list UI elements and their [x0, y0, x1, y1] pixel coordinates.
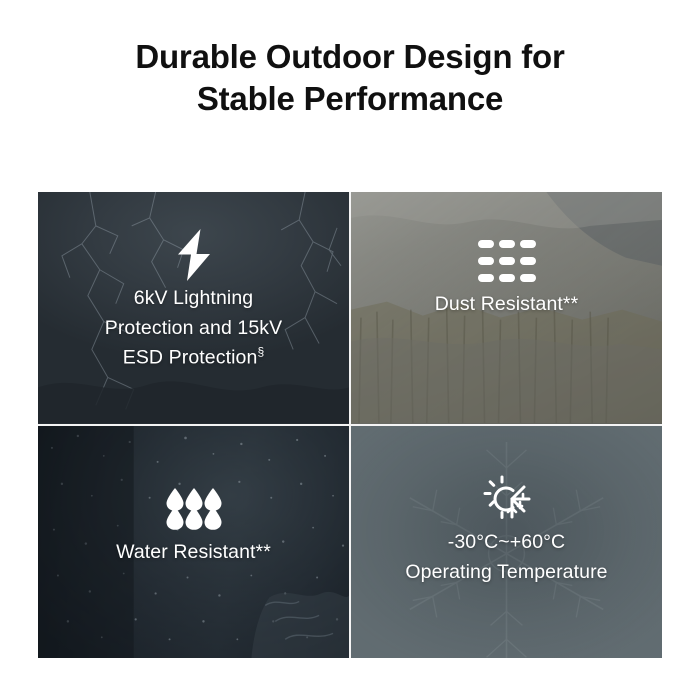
feature-panel-dust-resistant[interactable]: Dust Resistant** — [351, 192, 662, 424]
feature-panel-water-resistant[interactable]: Water Resistant** — [38, 426, 349, 658]
panel-caption-dust-resistant: Dust Resistant** — [435, 290, 579, 320]
caption-line-1: -30°C~+60°C — [405, 528, 607, 558]
caption-line-2: Operating Temperature — [405, 558, 607, 588]
caption-line-3-text: ESD Protection — [123, 347, 258, 369]
dust-grid-icon — [475, 232, 539, 290]
panel-caption-operating-temperature: -30°C~+60°C Operating Temperature — [405, 528, 607, 587]
page-title-line-2: Stable Performance — [0, 78, 700, 120]
caption-line-1: Water Resistant** — [116, 538, 271, 568]
sun-snowflake-icon — [475, 470, 539, 528]
caption-line-2: Protection and 15kV — [105, 314, 283, 344]
caption-footnote-marker: § — [257, 345, 264, 359]
feature-grid: 6kV Lightning Protection and 15kV ESD Pr… — [38, 192, 662, 658]
caption-line-3: ESD Protection§ — [105, 343, 283, 373]
caption-line-1: 6kV Lightning — [105, 284, 283, 314]
panel-caption-lightning-protection: 6kV Lightning Protection and 15kV ESD Pr… — [105, 284, 283, 373]
lightning-bolt-icon — [162, 226, 226, 284]
water-droplets-glyph — [166, 488, 222, 530]
lightning-bolt-glyph — [173, 229, 215, 281]
caption-line-1: Dust Resistant** — [435, 290, 579, 320]
sun-snowflake-glyph — [483, 475, 531, 523]
feature-panel-lightning-protection[interactable]: 6kV Lightning Protection and 15kV ESD Pr… — [38, 192, 349, 424]
panel-caption-water-resistant: Water Resistant** — [116, 538, 271, 568]
water-droplets-icon — [162, 480, 226, 538]
page-title-line-1: Durable Outdoor Design for — [0, 36, 700, 78]
page-title: Durable Outdoor Design for Stable Perfor… — [0, 36, 700, 120]
dust-grid-glyph — [478, 240, 536, 282]
feature-panel-operating-temperature[interactable]: -30°C~+60°C Operating Temperature — [351, 426, 662, 658]
